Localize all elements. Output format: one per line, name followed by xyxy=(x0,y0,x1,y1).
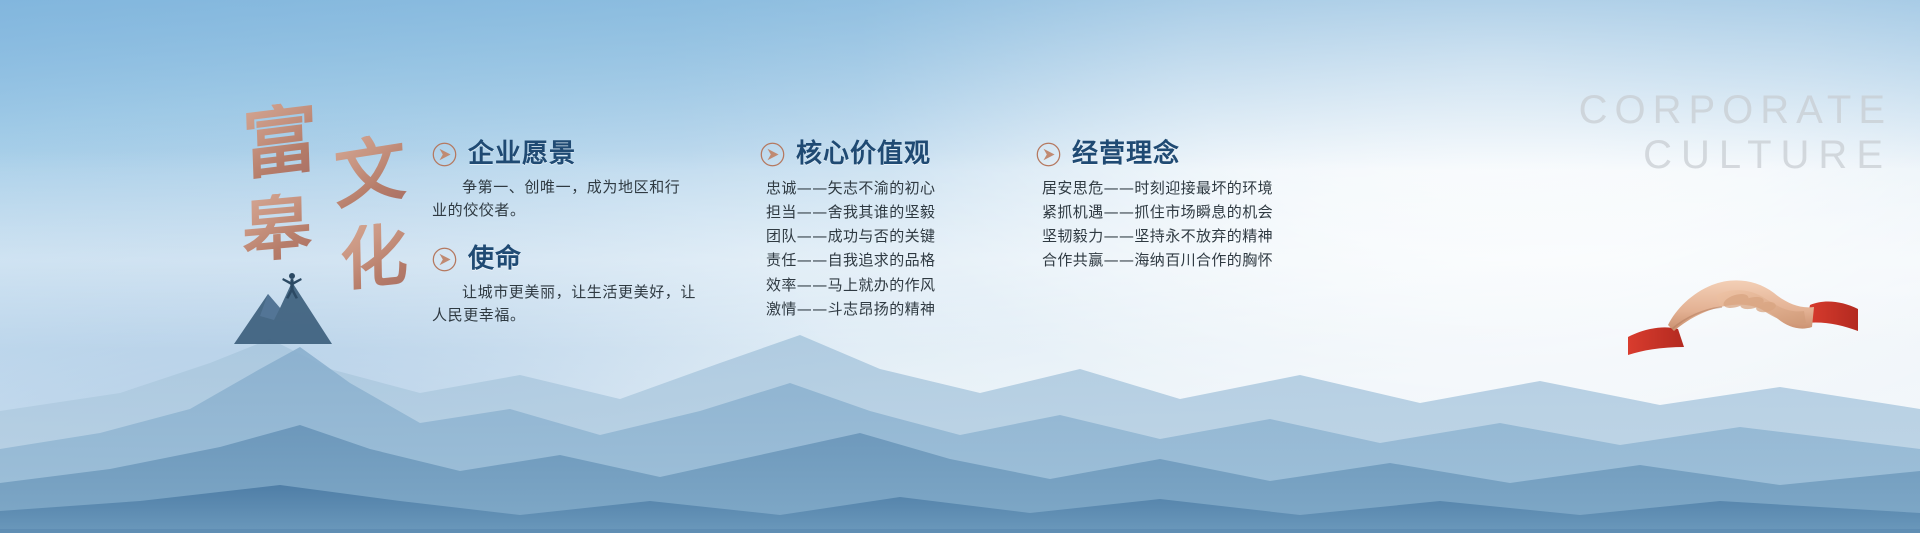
corporate-culture-banner: CORPORATE CULTURE 富 皋 文 化 xyxy=(0,0,1920,533)
watermark-line-2: CULTURE xyxy=(1579,133,1892,178)
column-vision-mission: 企业愿景 争第一、创唯一，成为地区和行业的佼佼者。 使命 让城市更美丽，让生活更… xyxy=(432,140,732,342)
heading-core-values-label: 核心价值观 xyxy=(796,140,931,169)
calligraphy-char-1: 富 xyxy=(241,99,319,185)
arrow-circle-icon xyxy=(432,247,457,272)
heading-management-philosophy-label: 经营理念 xyxy=(1072,140,1180,169)
core-values-list: 忠诚——矢志不渝的初心 担当——舍我其谁的坚毅 团队——成功与否的关键 责任——… xyxy=(760,176,1030,322)
calligraphy-char-4: 化 xyxy=(340,220,409,295)
list-item: 担当——舍我其谁的坚毅 xyxy=(760,200,1030,224)
list-item: 居安思危——时刻迎接最坏的环境 xyxy=(1036,176,1336,200)
management-philosophy-list: 居安思危——时刻迎接最坏的环境 紧抓机遇——抓住市场瞬息的机会 坚韧毅力——坚持… xyxy=(1036,176,1336,273)
list-item: 忠诚——矢志不渝的初心 xyxy=(760,176,1030,200)
summit-figure-icon xyxy=(228,268,338,351)
list-item: 团队——成功与否的关键 xyxy=(760,224,1030,248)
arrow-circle-icon xyxy=(432,142,457,167)
watermark-corporate-culture: CORPORATE CULTURE xyxy=(1579,88,1892,178)
heading-vision-label: 企业愿景 xyxy=(468,140,576,169)
watermark-line-1: CORPORATE xyxy=(1579,88,1892,133)
heading-management-philosophy: 经营理念 xyxy=(1036,140,1336,169)
list-item: 激情——斗志昂扬的精神 xyxy=(760,297,1030,321)
body-vision: 争第一、创唯一，成为地区和行业的佼佼者。 xyxy=(432,176,684,223)
heading-vision: 企业愿景 xyxy=(432,140,732,169)
body-mission: 让城市更美丽，让生活更美好，让人民更幸福。 xyxy=(432,281,700,328)
list-item: 合作共赢——海纳百川合作的胸怀 xyxy=(1036,248,1336,272)
calligraphy-char-2: 皋 xyxy=(242,191,313,267)
heading-mission-label: 使命 xyxy=(468,245,522,274)
list-item: 坚韧毅力——坚持永不放弃的精神 xyxy=(1036,224,1336,248)
list-item: 责任——自我追求的品格 xyxy=(760,248,1030,272)
column-management-philosophy: 经营理念 居安思危——时刻迎接最坏的环境 紧抓机遇——抓住市场瞬息的机会 坚韧毅… xyxy=(1036,140,1336,287)
list-item: 紧抓机遇——抓住市场瞬息的机会 xyxy=(1036,200,1336,224)
block-mission: 使命 让城市更美丽，让生活更美好，让人民更幸福。 xyxy=(432,245,732,328)
calligraphy-char-3: 文 xyxy=(333,130,408,214)
block-core-values: 核心价值观 忠诚——矢志不渝的初心 担当——舍我其谁的坚毅 团队——成功与否的关… xyxy=(760,140,1030,321)
block-vision: 企业愿景 争第一、创唯一，成为地区和行业的佼佼者。 xyxy=(432,140,732,223)
block-management-philosophy: 经营理念 居安思危——时刻迎接最坏的环境 紧抓机遇——抓住市场瞬息的机会 坚韧毅… xyxy=(1036,140,1336,273)
list-item: 效率——马上就办的作风 xyxy=(760,273,1030,297)
arrow-circle-icon xyxy=(1036,142,1061,167)
heading-core-values: 核心价值观 xyxy=(760,140,1030,169)
clasped-hands-image xyxy=(1628,251,1858,361)
arrow-circle-icon xyxy=(760,142,785,167)
column-core-values: 核心价值观 忠诚——矢志不渝的初心 担当——舍我其谁的坚毅 团队——成功与否的关… xyxy=(760,140,1030,335)
heading-mission: 使命 xyxy=(432,245,732,274)
